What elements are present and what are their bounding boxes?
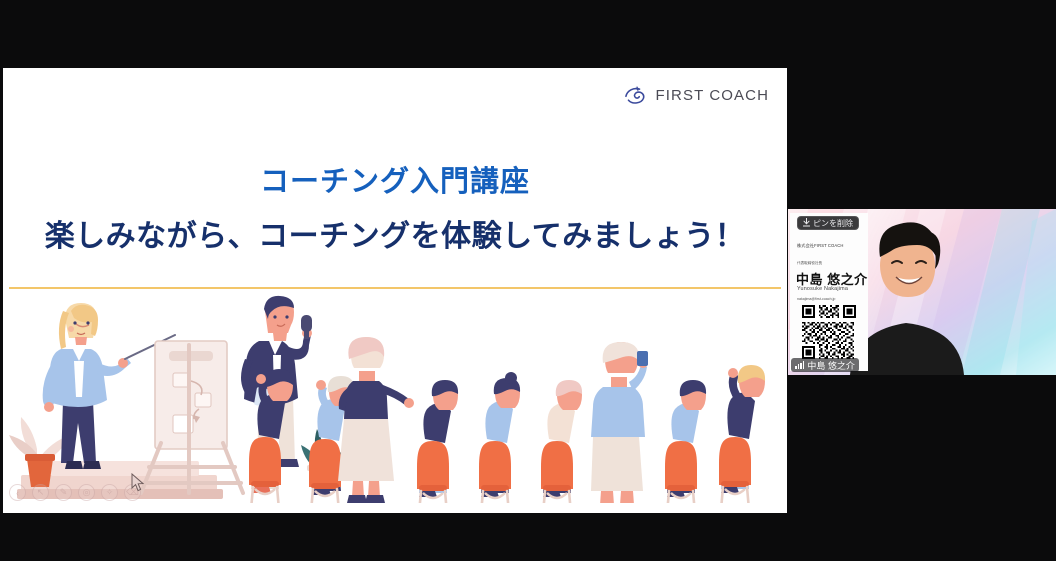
back-icon[interactable]: ‹ <box>9 484 26 501</box>
first-coach-swoosh-icon <box>622 82 648 108</box>
participant-video-tile[interactable]: 株式会社FIRST COACH 代表取締役社長 中島 悠之介 Yunosuke … <box>788 209 1056 375</box>
card-email: nakajima@first-coach.jp <box>797 297 835 301</box>
qr-code <box>802 305 856 359</box>
spotlight-icon[interactable]: ✧ <box>101 484 118 501</box>
pen-icon[interactable]: ✎ <box>55 484 72 501</box>
select-icon[interactable]: ↖ <box>32 484 49 501</box>
mouse-pointer <box>131 473 145 493</box>
meeting-stage: FIRST COACH コーチング入門講座 楽しみながら、コーチングを体験してみ… <box>0 0 1056 561</box>
coaching-seminar-illustration <box>3 293 787 513</box>
page-subtitle: 楽しみながら、コーチングを体験してみましょう！ <box>3 218 787 256</box>
remove-pin-label: ピンを削除 <box>813 218 853 229</box>
remove-pin-button[interactable]: ピンを削除 <box>797 216 859 230</box>
title-block: コーチング入門講座 楽しみながら、コーチングを体験してみましょう！ <box>3 164 787 256</box>
title-divider <box>9 287 781 289</box>
participant-name-tag: 中島 悠之介 <box>791 358 859 372</box>
card-name-en: Yunosuke Nakajima <box>797 286 848 292</box>
stamp-icon[interactable]: ◎ <box>78 484 95 501</box>
first-coach-logo: FIRST COACH <box>622 82 770 108</box>
business-card: 株式会社FIRST COACH 代表取締役社長 中島 悠之介 Yunosuke … <box>790 213 868 371</box>
page-title: コーチング入門講座 <box>3 164 787 200</box>
card-company: 株式会社FIRST COACH <box>797 243 844 249</box>
annotation-toolbar[interactable]: ‹ ↖ ✎ ◎ ✧ ⌫ <box>9 484 141 501</box>
card-role: 代表取締役社長 <box>797 261 822 266</box>
pin-remove-icon <box>803 218 810 229</box>
shared-slide[interactable]: FIRST COACH コーチング入門講座 楽しみながら、コーチングを体験してみ… <box>3 68 787 513</box>
participant-name: 中島 悠之介 <box>807 359 855 372</box>
first-coach-wordmark: FIRST COACH <box>656 87 770 104</box>
signal-bars-icon <box>795 361 804 369</box>
